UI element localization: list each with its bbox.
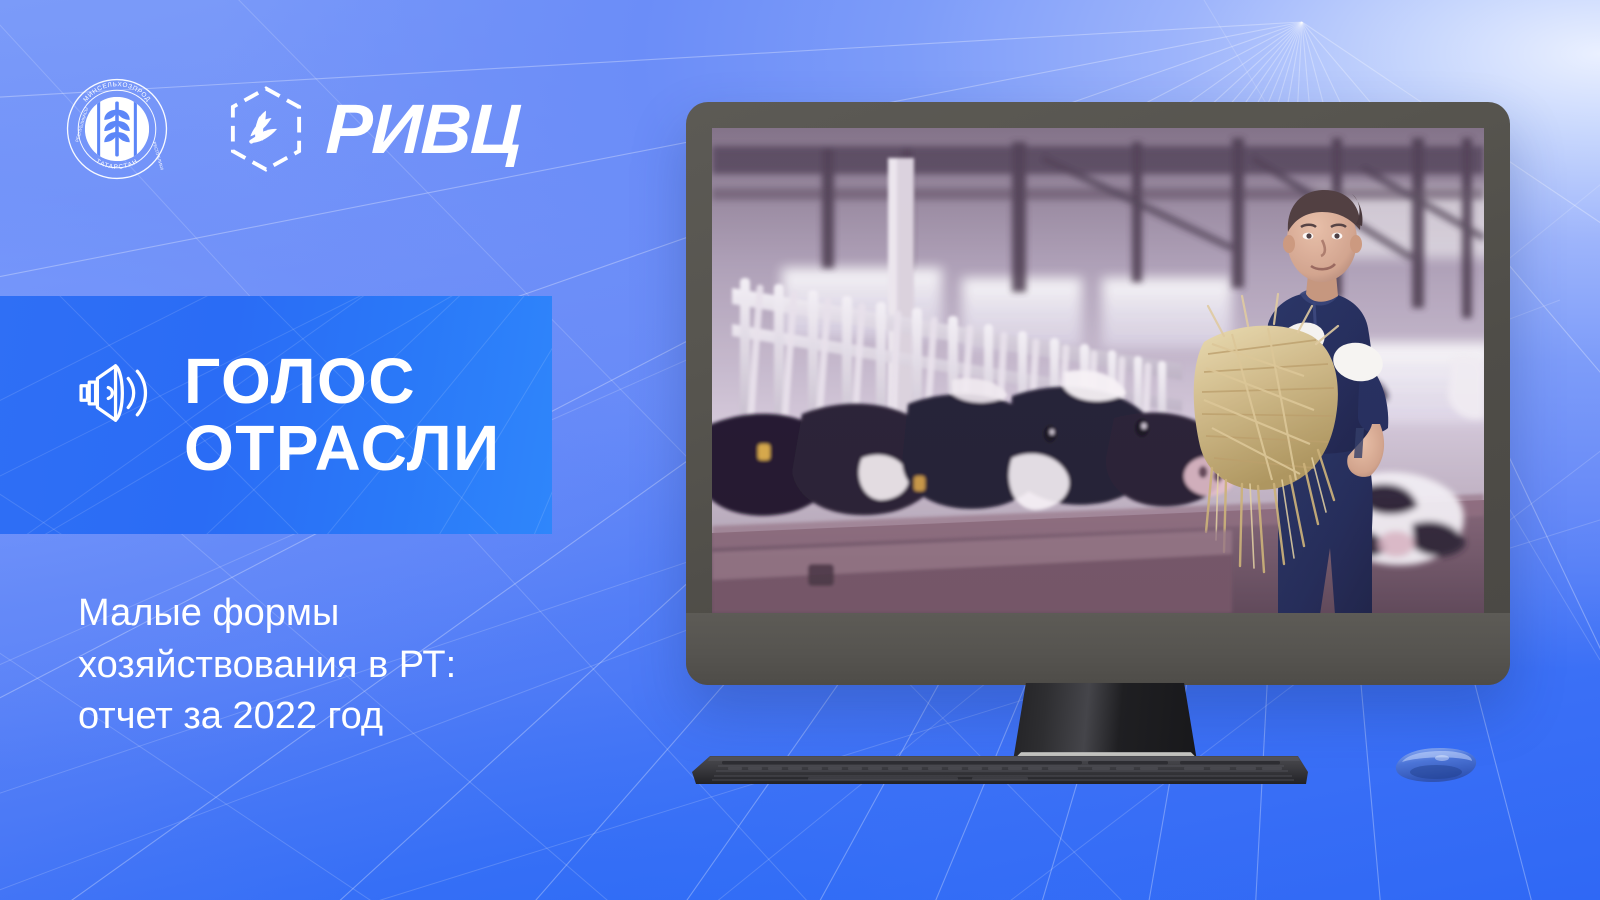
subtitle: Малые формы хозяйствования в РТ: отчет з… (78, 588, 598, 743)
wheat-emblem-icon: МИНСЕЛЬХОЗПРОД ТАТАРСТАН РЕСПУБЛИКАСЫ РЕ… (66, 78, 168, 180)
rivc-wordmark: РИВЦ (325, 94, 522, 164)
promo-banner: МИНСЕЛЬХОЗПРОД ТАТАРСТАН РЕСПУБЛИКАСЫ РЕ… (0, 0, 1600, 900)
status-badge: ГОЛОС ОТРАСЛИ (0, 296, 552, 534)
monitor-screen (712, 128, 1484, 613)
subtitle-line-2: хозяйствования в РТ: (78, 640, 598, 692)
badge-ray-lines (0, 296, 552, 534)
svg-text:РЕСПУБЛИКИ: РЕСПУБЛИКИ (152, 141, 165, 170)
monitor-chin (686, 613, 1510, 685)
subtitle-line-1: Малые формы (78, 588, 598, 640)
hexagon-wheat-icon (220, 83, 312, 175)
subtitle-line-3: отчет за 2022 год (78, 691, 598, 743)
screen-photo (712, 128, 1484, 613)
rivc-logo: РИВЦ (220, 83, 521, 175)
mouse[interactable] (1390, 742, 1482, 786)
desktop-monitor (686, 102, 1510, 685)
logo-row: МИНСЕЛЬХОЗПРОД ТАТАРСТАН РЕСПУБЛИКАСЫ РЕ… (66, 78, 521, 180)
keyboard[interactable] (688, 750, 1310, 790)
